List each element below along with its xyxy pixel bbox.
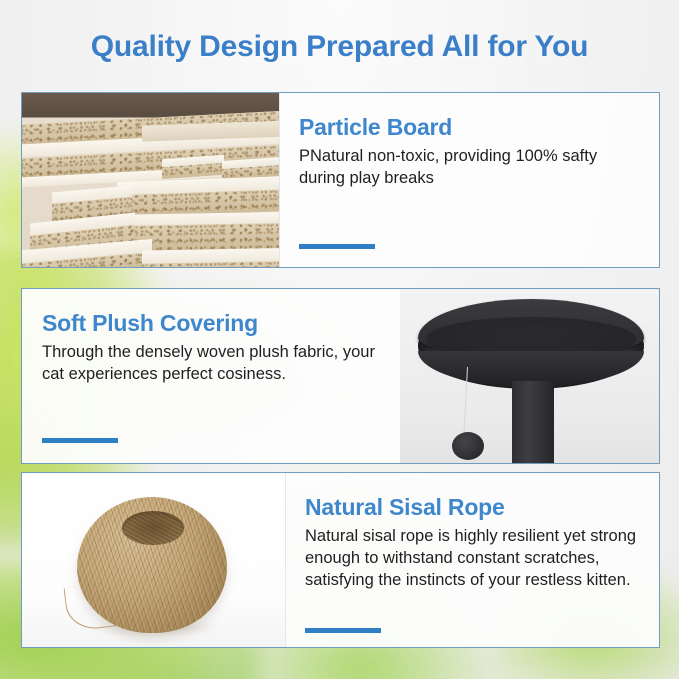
feature-title: Natural Sisal Rope	[305, 495, 639, 520]
accent-underline-bar	[299, 244, 375, 249]
infographic-page: Quality Design Prepared All for You	[0, 0, 679, 679]
feature-title: Particle Board	[299, 115, 639, 140]
feature-card-soft-plush-covering: Soft Plush Covering Through the densely …	[21, 288, 660, 464]
feature-card-natural-sisal-rope: Natural Sisal Rope Natural sisal rope is…	[21, 472, 660, 648]
feature-description: Through the densely woven plush fabric, …	[42, 342, 380, 386]
plush-cat-perch-image	[400, 289, 659, 463]
feature-description: PNatural non-toxic, providing 100% safty…	[299, 146, 639, 190]
accent-underline-bar	[305, 628, 381, 633]
particle-board-image	[22, 93, 279, 267]
feature-title: Soft Plush Covering	[42, 311, 380, 336]
page-title: Quality Design Prepared All for You	[0, 30, 679, 64]
feature-description: Natural sisal rope is highly resilient y…	[305, 526, 639, 591]
accent-underline-bar	[42, 438, 118, 443]
sisal-twine-ball-image	[22, 473, 285, 647]
feature-card-particle-board: Particle Board PNatural non-toxic, provi…	[21, 92, 660, 268]
